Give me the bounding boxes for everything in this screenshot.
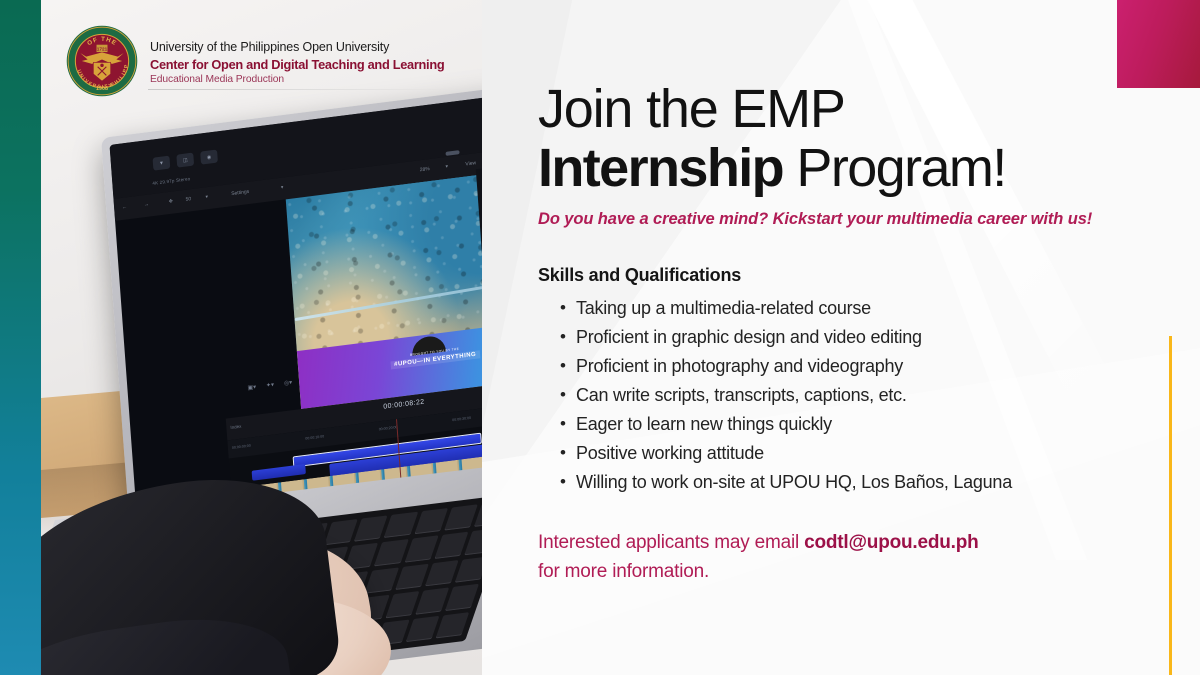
list-item: Willing to work on-site at UPOU HQ, Los … <box>538 468 1178 497</box>
effects-icon[interactable]: ◉ <box>200 150 218 165</box>
import-icon[interactable]: ▼ <box>153 156 171 171</box>
editor-tool-buttons: ▼ ◫ ◉ <box>153 150 218 171</box>
brand-divider <box>148 89 448 90</box>
transform-icon[interactable]: ✥ <box>169 198 174 205</box>
list-item: Taking up a multimedia-related course <box>538 294 1178 323</box>
scale-value[interactable]: 50 <box>185 196 191 203</box>
timeline-timecode: 00:00:08:22 <box>383 399 425 411</box>
left-gradient-bar <box>0 0 41 675</box>
viewer-bottom-tools: ▣▾ ✦▾ ◎▾ <box>247 379 292 392</box>
laptop-photo: ▼ ◫ ◉ 4K 29.97p Stereo ← → ✥ 50 ▾ Settin… <box>41 0 482 675</box>
tagline: Do you have a creative mind? Kickstart y… <box>538 210 1178 229</box>
poster-canvas: ▼ ◫ ◉ 4K 29.97p Stereo ← → ✥ 50 ▾ Settin… <box>0 0 1200 675</box>
media-icon[interactable]: ◫ <box>176 153 194 168</box>
scale-caret-icon[interactable]: ▾ <box>205 194 208 200</box>
content-column: Join the EMP Internship Program! Do you … <box>538 0 1178 675</box>
upou-seal-icon: OF THE UNIVERSITY PHILIPPINES 1908 1721 <box>66 25 138 97</box>
headline-bold-word: Internship <box>538 138 783 198</box>
page-title: Join the EMP Internship Program! <box>538 82 1178 196</box>
back-icon[interactable]: ← <box>122 204 127 211</box>
contact-email[interactable]: codtl@upou.edu.ph <box>804 532 978 553</box>
university-name: University of the Philippines Open Unive… <box>150 40 444 54</box>
list-item: Proficient in graphic design and video e… <box>538 323 1178 352</box>
forward-icon[interactable]: → <box>144 202 149 209</box>
list-item: Can write scripts, transcripts, captions… <box>538 381 1178 410</box>
center-name: Center for Open and Digital Teaching and… <box>150 57 444 72</box>
distort-icon[interactable]: ◎▾ <box>284 379 293 387</box>
contact-block: Interested applicants may email codtl@up… <box>538 528 1178 586</box>
svg-text:1721: 1721 <box>97 47 108 52</box>
skills-list: Taking up a multimedia-related course Pr… <box>538 294 1178 497</box>
crop-icon[interactable]: ▣▾ <box>247 384 256 392</box>
headline-line-1: Join the EMP <box>538 79 845 139</box>
contact-suffix: for more information. <box>538 561 709 582</box>
list-item: Positive working attitude <box>538 439 1178 468</box>
unit-name: Educational Media Production <box>150 74 444 85</box>
skills-section-title: Skills and Qualifications <box>538 265 1178 286</box>
video-preview[interactable]: BROUGHT TO YOU BY THE #UPOU—IN EVERYTHIN… <box>286 165 482 409</box>
brand-text-block: University of the Philippines Open Unive… <box>150 25 444 85</box>
settings-menu[interactable]: Settings <box>231 189 249 197</box>
list-item: Eager to learn new things quickly <box>538 410 1178 439</box>
settings-caret-icon[interactable]: ▾ <box>281 185 284 191</box>
headline-regular-word: Program! <box>783 138 1006 198</box>
zoom-caret-icon[interactable]: ▾ <box>445 164 448 170</box>
svg-text:1908: 1908 <box>96 86 108 92</box>
clip-format-label: 4K 29.97p Stereo <box>152 176 190 186</box>
timeline-index-label[interactable]: Index <box>230 424 241 430</box>
view-menu[interactable]: View <box>465 160 476 167</box>
ruler-tick: 00:00:30:00 <box>452 416 471 422</box>
list-item: Proficient in photography and videograph… <box>538 352 1178 381</box>
ruler-tick: 00:00:00:00 <box>232 444 251 450</box>
transform-tool-icon[interactable]: ✦▾ <box>266 381 274 389</box>
brand-header: OF THE UNIVERSITY PHILIPPINES 1908 1721 <box>66 25 444 97</box>
zoom-level[interactable]: 28% <box>420 166 430 173</box>
ruler-tick: 00:00:20:00 <box>379 425 398 431</box>
headline-line-2: Internship Program! <box>538 141 1178 196</box>
ruler-tick: 00:00:10:00 <box>305 434 324 440</box>
timeline-clip[interactable] <box>252 464 306 481</box>
contact-prefix: Interested applicants may email <box>538 532 804 553</box>
